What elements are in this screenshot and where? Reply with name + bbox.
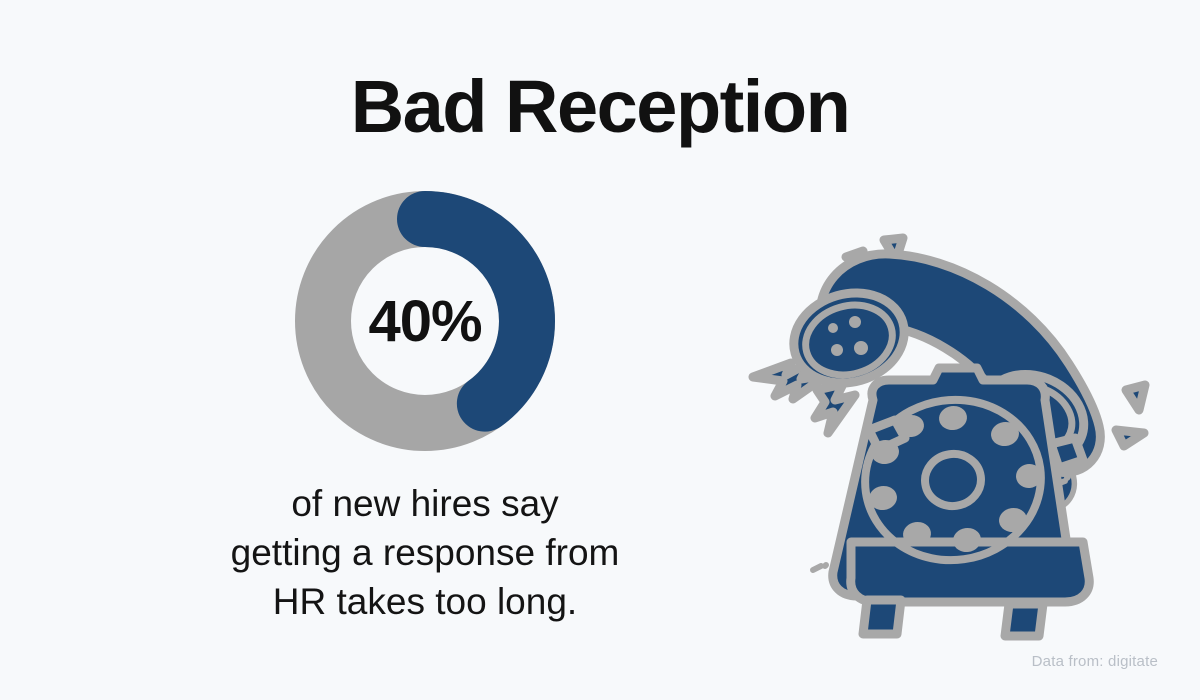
telephone-foot-right — [1005, 604, 1043, 636]
ring-mark-icon-right-upper — [1126, 385, 1145, 410]
donut-chart: 40% — [290, 186, 560, 456]
data-source-credit: Data from: digitate — [1032, 653, 1158, 670]
page-title: Bad Reception — [0, 68, 1200, 146]
donut-center-value: 40% — [290, 186, 560, 456]
stat-block: 40% of new hires say getting a response … — [120, 186, 730, 626]
stat-caption: of new hires say getting a response from… — [120, 480, 730, 626]
ring-mark-icon-right-lower — [1116, 430, 1144, 446]
telephone-foot-left — [863, 600, 901, 634]
stat-caption-line-2: getting a response from — [120, 529, 730, 578]
stat-caption-line-3: HR takes too long. — [120, 578, 730, 627]
infographic-canvas: Bad Reception 40% of new hires say getti… — [0, 0, 1200, 700]
stat-caption-line-1: of new hires say — [120, 480, 730, 529]
telephone-illustration — [745, 222, 1175, 642]
telephone-illustration-svg — [745, 222, 1175, 642]
ring-mark-icon-left-bolt-small — [815, 384, 855, 433]
